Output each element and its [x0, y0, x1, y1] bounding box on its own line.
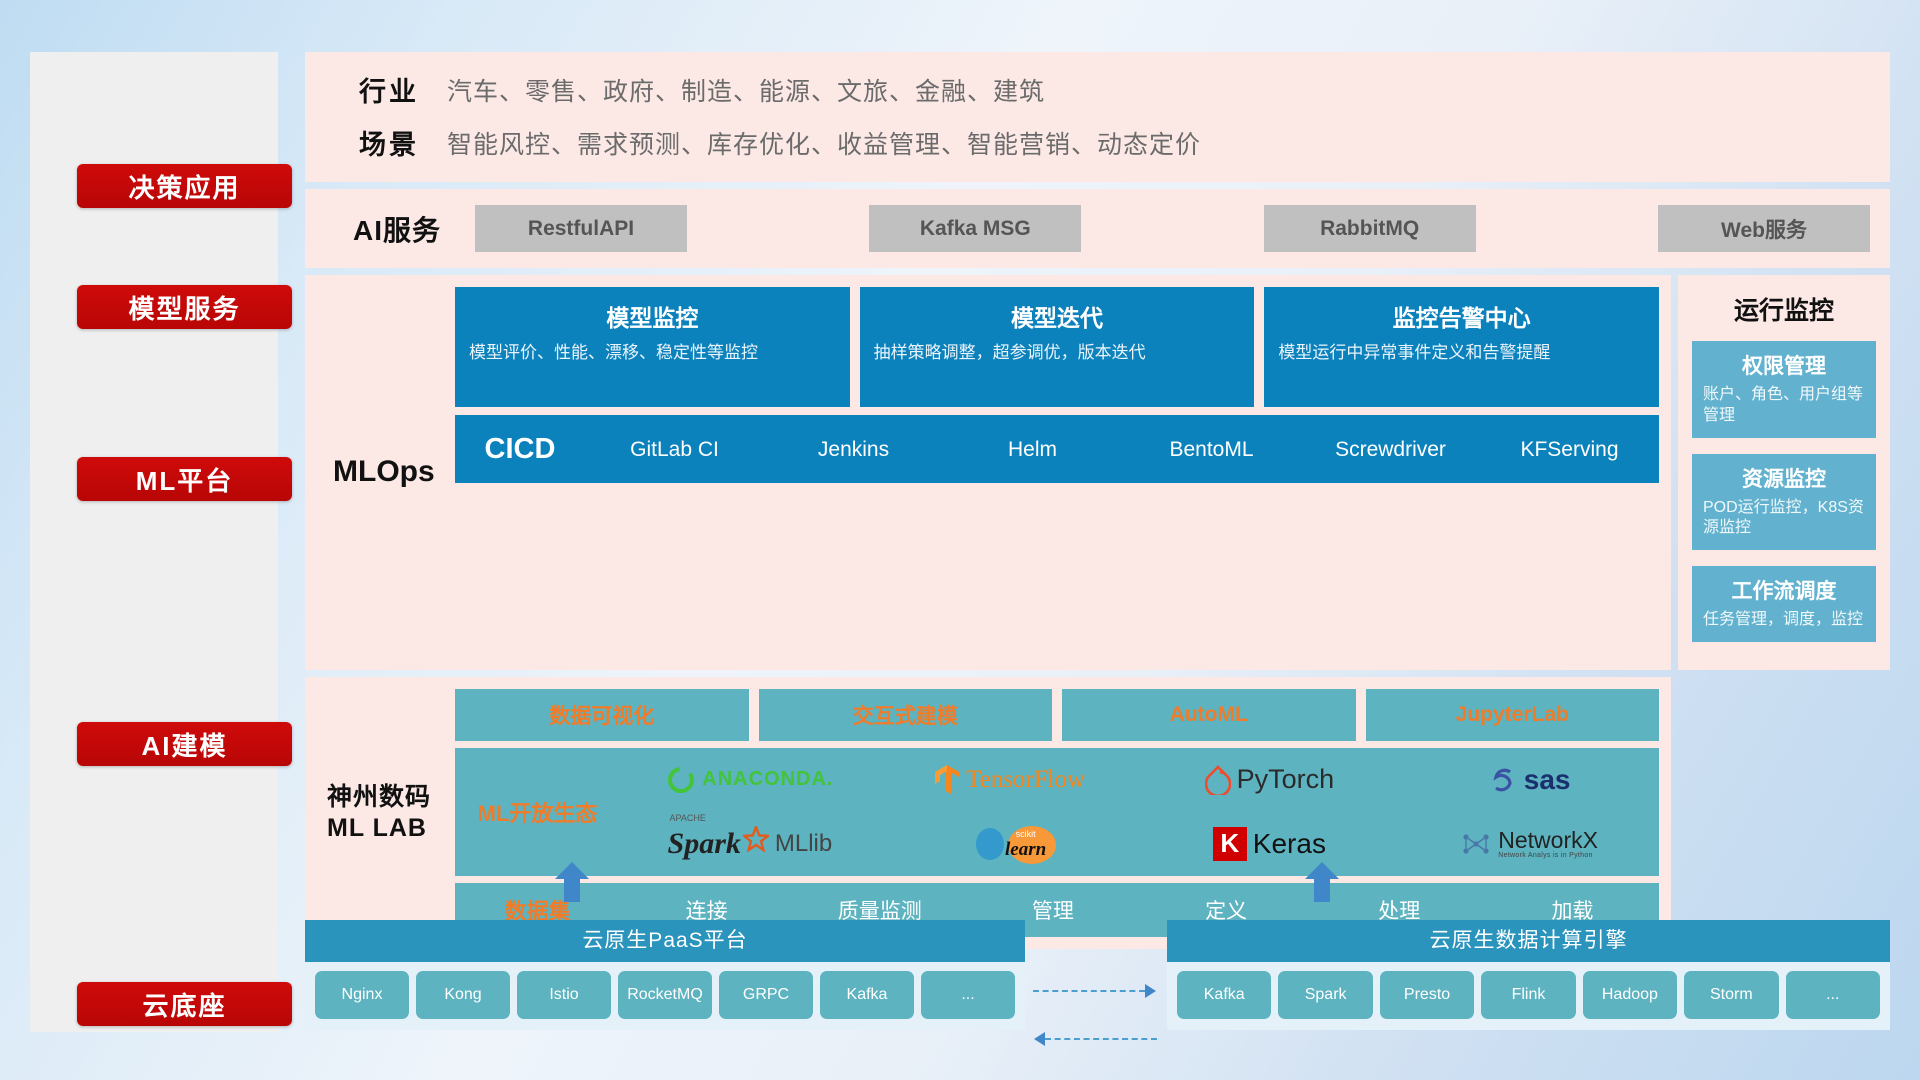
- paas-chip-nginx[interactable]: Nginx: [315, 971, 409, 1019]
- rail-tag-label: 决策应用: [128, 168, 240, 205]
- networkx-graph-icon: [1460, 829, 1492, 859]
- mlops-label: MLOps: [305, 287, 455, 658]
- scikit-learn-wordmark: learn: [1005, 839, 1046, 861]
- ai-service-item-web-service[interactable]: Web服务: [1658, 205, 1870, 252]
- mlops-card-title: 监控告警中心: [1278, 299, 1645, 333]
- link-arrow-right-head-icon: [1145, 984, 1156, 998]
- spark-mllib-logo: APACHE Spark MLlib: [620, 826, 880, 862]
- rail-tag-label: 模型服务: [128, 289, 240, 326]
- tensorflow-logo: TensorFlow: [880, 764, 1140, 796]
- monitor-card-title: 权限管理: [1703, 350, 1865, 380]
- paas-chip-more[interactable]: ...: [921, 971, 1015, 1019]
- rail-tag-cloud-base[interactable]: 云底座: [77, 982, 292, 1026]
- spark-wordmark: Spark: [668, 827, 741, 860]
- monitor-card-desc: 任务管理，调度，监控: [1703, 610, 1865, 631]
- modeling-label-line1: 神州数码: [327, 782, 431, 813]
- tool-data-visualization[interactable]: 数据可视化: [455, 689, 749, 741]
- industry-key: 行业: [327, 70, 447, 109]
- keras-wordmark: Keras: [1253, 828, 1326, 860]
- paas-chip-grpc[interactable]: GRPC: [719, 971, 813, 1019]
- scenario-key: 场景: [327, 123, 447, 162]
- paas-panel-title: 云原生PaaS平台: [305, 920, 1025, 962]
- cicd-item-screwdriver[interactable]: Screwdriver: [1301, 439, 1480, 460]
- monitor-card-title: 资源监控: [1703, 463, 1865, 493]
- spark-star-icon: [743, 826, 769, 852]
- tensorflow-wordmark: TensorFlow: [966, 766, 1085, 794]
- sas-wordmark: sas: [1524, 764, 1571, 796]
- monitor-card-desc: POD运行监控，K8S资源监控: [1703, 498, 1865, 540]
- link-arrow-left-line: [1045, 1038, 1157, 1040]
- monitor-card-permission[interactable]: 权限管理 账户、角色、用户组等管理: [1692, 341, 1876, 438]
- modeling-tool-list: 数据可视化 交互式建模 AutoML JupyterLab: [455, 689, 1659, 741]
- anaconda-wordmark: ANACONDA.: [702, 768, 833, 791]
- link-arrow-left-head-icon: [1034, 1032, 1045, 1046]
- mlops-band: MLOps 模型监控 模型评价、性能、漂移、稳定性等监控 模型迭代 抽样策略调整…: [305, 275, 1671, 670]
- scenario-value: 智能风控、需求预测、库存优化、收益管理、智能营销、动态定价: [447, 125, 1201, 161]
- ai-service-band: AI服务 RestfulAPI Kafka MSG RabbitMQ Web服务: [305, 189, 1890, 268]
- sas-logo: sas: [1399, 764, 1659, 796]
- data-engine-panel-title: 云原生数据计算引擎: [1167, 920, 1890, 962]
- ai-service-label: AI服务: [325, 209, 475, 249]
- modeling-label-line2: ML LAB: [327, 813, 427, 844]
- paas-chip-rocketmq[interactable]: RocketMQ: [618, 971, 712, 1019]
- rail-tag-ai-modeling[interactable]: AI建模: [77, 722, 292, 766]
- networkx-logo: NetworkX Network Analys is in Python: [1399, 828, 1659, 859]
- data-engine-panel: 云原生数据计算引擎 Kafka Spark Presto Flink Hadoo…: [1167, 920, 1890, 1030]
- industry-value: 汽车、零售、政府、制造、能源、文旅、金融、建筑: [447, 72, 1045, 108]
- tool-jupyterlab[interactable]: JupyterLab: [1366, 689, 1660, 741]
- cicd-item-gitlab-ci[interactable]: GitLab CI: [585, 439, 764, 460]
- cicd-item-helm[interactable]: Helm: [943, 439, 1122, 460]
- tensorflow-mark-icon: [934, 764, 960, 796]
- paas-chip-kafka[interactable]: Kafka: [820, 971, 914, 1019]
- keras-mark-icon: K: [1213, 827, 1247, 861]
- rail-tag-label: ML平台: [136, 461, 234, 498]
- pytorch-wordmark: PyTorch: [1237, 764, 1335, 795]
- anaconda-logo: ANACONDA.: [620, 765, 880, 795]
- scikit-blob-icon: [973, 826, 1007, 862]
- scenario-row: 场景 智能风控、需求预测、库存优化、收益管理、智能营销、动态定价: [327, 123, 1880, 162]
- layer-rail: 决策应用 模型服务 ML平台 AI建模 云底座: [30, 52, 278, 1032]
- cicd-item-kfserving[interactable]: KFServing: [1480, 439, 1659, 460]
- data-engine-chip-hadoop[interactable]: Hadoop: [1583, 971, 1677, 1019]
- keras-logo: K Keras: [1140, 827, 1400, 861]
- rail-tag-ml-platform[interactable]: ML平台: [77, 457, 292, 501]
- rail-tag-decision-app[interactable]: 决策应用: [77, 164, 292, 208]
- cicd-item-bentoml[interactable]: BentoML: [1122, 439, 1301, 460]
- monitor-column-title: 运行监控: [1692, 291, 1876, 327]
- rail-tag-label: AI建模: [141, 726, 227, 763]
- ai-service-item-rabbitmq[interactable]: RabbitMQ: [1264, 205, 1476, 252]
- data-engine-chip-presto[interactable]: Presto: [1380, 971, 1474, 1019]
- cicd-strip: CICD GitLab CI Jenkins Helm BentoML Scre…: [455, 415, 1659, 483]
- data-engine-chip-storm[interactable]: Storm: [1684, 971, 1778, 1019]
- scikit-learn-logo: scikit learn: [880, 826, 1140, 862]
- rail-tag-model-service[interactable]: 模型服务: [77, 285, 292, 329]
- ai-service-item-kafka-msg[interactable]: Kafka MSG: [869, 205, 1081, 252]
- data-engine-chip-spark[interactable]: Spark: [1278, 971, 1372, 1019]
- monitor-column: 运行监控 权限管理 账户、角色、用户组等管理 资源监控 POD运行监控，K8S资…: [1678, 275, 1890, 670]
- monitor-card-resource[interactable]: 资源监控 POD运行监控，K8S资源监控: [1692, 454, 1876, 551]
- cicd-item-jenkins[interactable]: Jenkins: [764, 439, 943, 460]
- diagram-canvas: 决策应用 模型服务 ML平台 AI建模 云底座 行业 汽车、零售、政府、制造、能…: [0, 0, 1920, 1080]
- arrow-up-paas-icon: [555, 862, 589, 902]
- tool-interactive-modeling[interactable]: 交互式建模: [759, 689, 1053, 741]
- mlops-card-list: 模型监控 模型评价、性能、漂移、稳定性等监控 模型迭代 抽样策略调整，超参调优，…: [455, 287, 1659, 407]
- data-engine-chip-more[interactable]: ...: [1786, 971, 1880, 1019]
- cloud-foundation-row: 云原生PaaS平台 Nginx Kong Istio RocketMQ GRPC…: [305, 880, 1890, 1030]
- tool-automl[interactable]: AutoML: [1062, 689, 1356, 741]
- scikit-super: scikit: [1005, 827, 1046, 839]
- monitor-card-desc: 账户、角色、用户组等管理: [1703, 385, 1865, 427]
- rail-tag-label: 云底座: [142, 986, 226, 1023]
- ai-service-list: RestfulAPI Kafka MSG RabbitMQ Web服务: [475, 205, 1870, 252]
- monitor-card-title: 工作流调度: [1703, 575, 1865, 605]
- sas-mark-icon: [1488, 765, 1518, 795]
- mllib-wordmark: MLlib: [775, 830, 832, 858]
- data-engine-chip-kafka[interactable]: Kafka: [1177, 971, 1271, 1019]
- spark-apache-super: APACHE: [670, 813, 706, 823]
- mlops-row: MLOps 模型监控 模型评价、性能、漂移、稳定性等监控 模型迭代 抽样策略调整…: [305, 275, 1890, 670]
- mlops-card-desc: 模型评价、性能、漂移、稳定性等监控: [469, 342, 836, 365]
- pytorch-mark-icon: [1205, 765, 1231, 795]
- main-column: 行业 汽车、零售、政府、制造、能源、文旅、金融、建筑 场景 智能风控、需求预测、…: [305, 52, 1890, 949]
- paas-panel: 云原生PaaS平台 Nginx Kong Istio RocketMQ GRPC…: [305, 920, 1025, 1030]
- data-engine-chip-flink[interactable]: Flink: [1481, 971, 1575, 1019]
- paas-chip-kong[interactable]: Kong: [416, 971, 510, 1019]
- ml-ecosystem-block: ML开放生态 ANACONDA.: [455, 748, 1659, 876]
- ml-ecosystem-logo-grid: ANACONDA. TensorFlow: [620, 748, 1659, 876]
- mlops-card-title: 模型迭代: [874, 299, 1241, 333]
- mlops-content: 模型监控 模型评价、性能、漂移、稳定性等监控 模型迭代 抽样策略调整，超参调优，…: [455, 287, 1659, 658]
- data-engine-chip-list: Kafka Spark Presto Flink Hadoop Storm ..…: [1167, 962, 1890, 1030]
- monitor-card-workflow[interactable]: 工作流调度 任务管理，调度，监控: [1692, 566, 1876, 642]
- mlops-card-desc: 模型运行中异常事件定义和告警提醒: [1278, 342, 1645, 365]
- mlops-card-alert-center[interactable]: 监控告警中心 模型运行中异常事件定义和告警提醒: [1264, 287, 1659, 407]
- paas-chip-istio[interactable]: Istio: [517, 971, 611, 1019]
- ai-service-item-restfulapi[interactable]: RestfulAPI: [475, 205, 687, 252]
- pytorch-logo: PyTorch: [1140, 764, 1400, 795]
- industry-row: 行业 汽车、零售、政府、制造、能源、文旅、金融、建筑: [327, 70, 1880, 109]
- networkx-wordmark: NetworkX: [1498, 828, 1598, 852]
- mlops-card-desc: 抽样策略调整，超参调优，版本迭代: [874, 342, 1241, 365]
- anaconda-mark-icon: [666, 765, 696, 795]
- networkx-tagline: Network Analys is in Python: [1498, 852, 1598, 859]
- link-arrow-right-line: [1033, 990, 1145, 992]
- mlops-card-title: 模型监控: [469, 299, 836, 333]
- cicd-title: CICD: [455, 433, 585, 466]
- paas-chip-list: Nginx Kong Istio RocketMQ GRPC Kafka ...: [305, 962, 1025, 1030]
- mlops-card-model-monitoring[interactable]: 模型监控 模型评价、性能、漂移、稳定性等监控: [455, 287, 850, 407]
- ml-ecosystem-label: ML开放生态: [455, 748, 620, 876]
- arrow-up-data-engine-icon: [1305, 862, 1339, 902]
- industry-band: 行业 汽车、零售、政府、制造、能源、文旅、金融、建筑 场景 智能风控、需求预测、…: [305, 52, 1890, 182]
- mlops-card-model-iteration[interactable]: 模型迭代 抽样策略调整，超参调优，版本迭代: [860, 287, 1255, 407]
- cicd-item-list: GitLab CI Jenkins Helm BentoML Screwdriv…: [585, 439, 1659, 460]
